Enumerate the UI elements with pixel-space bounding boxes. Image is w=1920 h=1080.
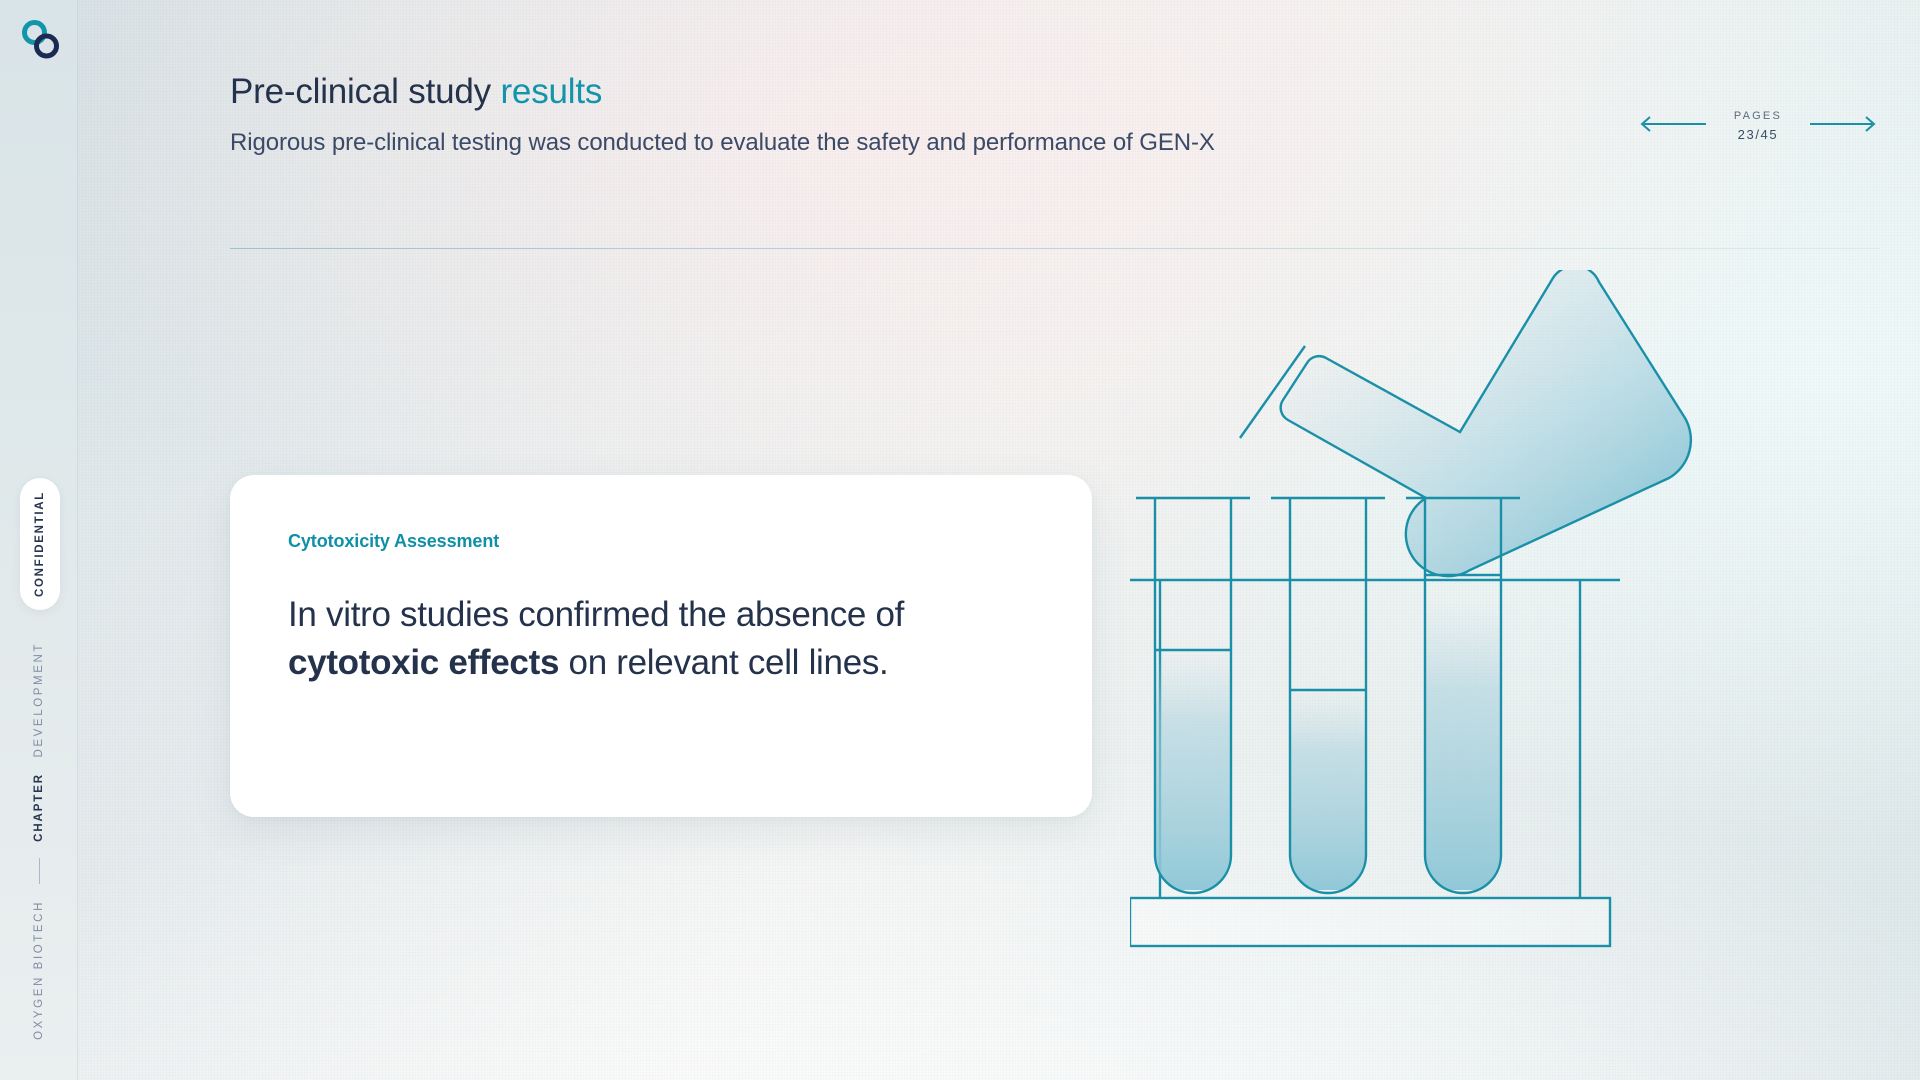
card-body: In vitro studies confirmed the absence o… [288, 591, 1034, 688]
pagination: PAGES 23/45 [1636, 108, 1880, 145]
card-eyebrow: Cytotoxicity Assessment [288, 531, 1034, 552]
page-counter-value: 23/45 [1734, 125, 1782, 145]
page-title: Pre-clinical study results [230, 72, 1880, 112]
page-counter-label: PAGES [1734, 108, 1782, 125]
page-counter: PAGES 23/45 [1734, 108, 1782, 145]
erlenmeyer-flask-icon [1240, 270, 1691, 576]
slide-background: CONFIDENTIAL OXYGEN BIOTECH CHAPTER DEVE… [0, 0, 1920, 1080]
confidential-label: CONFIDENTIAL [34, 491, 46, 597]
page-subtitle: Rigorous pre-clinical testing was conduc… [230, 126, 1250, 160]
lab-glassware-illustration [1130, 270, 1920, 1010]
test-tube-1 [1136, 498, 1250, 893]
page-title-main: Pre-clinical study [230, 72, 500, 111]
sidebar-meta-stack: OXYGEN BIOTECH CHAPTER DEVELOPMENT [0, 642, 78, 1040]
two-rings-logo [18, 17, 64, 63]
content-card: Cytotoxicity Assessment In vitro studies… [230, 475, 1092, 817]
confidential-badge: CONFIDENTIAL [20, 478, 60, 610]
sidebar-company: OXYGEN BIOTECH [33, 900, 45, 1040]
left-sidebar: CONFIDENTIAL OXYGEN BIOTECH CHAPTER DEVE… [0, 0, 78, 1080]
page-title-accent: results [500, 72, 602, 111]
test-tube-2 [1271, 498, 1385, 893]
sidebar-chapter-label: CHAPTER [33, 773, 45, 842]
arrow-left-icon[interactable] [1636, 115, 1708, 138]
card-body-highlight: cytotoxic effects [288, 643, 559, 682]
header-divider [230, 248, 1880, 249]
sidebar-divider [39, 858, 40, 884]
slide-header: Pre-clinical study results Rigorous pre-… [230, 72, 1880, 160]
card-body-part1: In vitro studies confirmed the absence o… [288, 595, 904, 634]
sidebar-chapter-name: DEVELOPMENT [33, 642, 45, 758]
arrow-right-icon[interactable] [1808, 115, 1880, 138]
card-body-part2: on relevant cell lines. [559, 643, 888, 682]
